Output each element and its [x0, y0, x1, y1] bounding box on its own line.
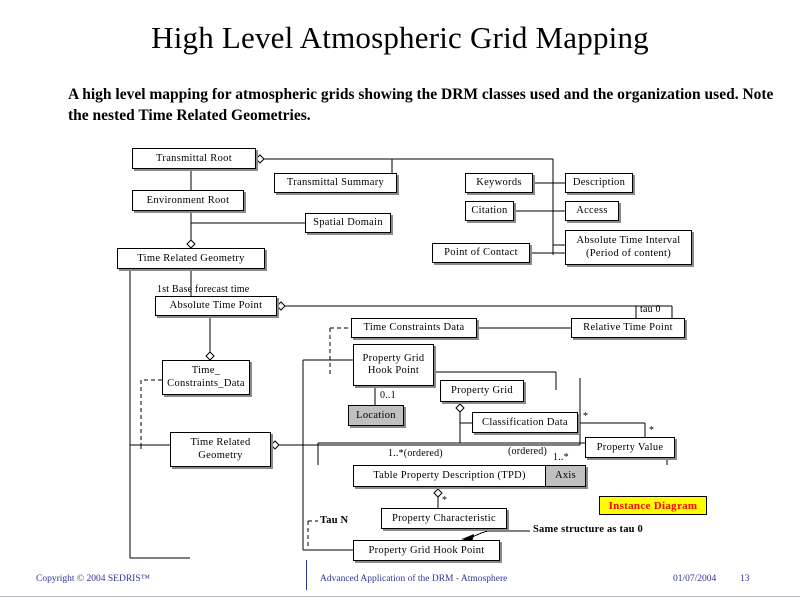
label-same-structure-note: Same structure as tau 0: [533, 524, 643, 535]
node-point-of-contact[interactable]: Point of Contact: [432, 243, 530, 263]
label-star-property-value: *: [649, 425, 654, 436]
footer-divider: [0, 596, 800, 597]
label-multiplicity-tpd: 1..*(ordered): [388, 448, 443, 459]
diagram-canvas: Transmittal Root Transmittal Summary Env…: [0, 140, 800, 565]
node-axis[interactable]: Axis: [545, 465, 586, 487]
footer-date: 01/07/2004: [673, 574, 716, 584]
node-time-related-geometry-top[interactable]: Time Related Geometry: [117, 248, 265, 269]
node-property-grid-hook-point-bottom[interactable]: Property Grid Hook Point: [353, 540, 500, 561]
node-access[interactable]: Access: [565, 201, 619, 221]
label-multiplicity-location: 0..1: [380, 390, 396, 401]
label-multiplicity-axis: 1..*: [553, 452, 569, 463]
node-absolute-time-point[interactable]: Absolute Time Point: [155, 296, 277, 316]
node-citation[interactable]: Citation: [465, 201, 514, 221]
node-property-value[interactable]: Property Value: [585, 437, 675, 458]
diamond-trg-mid: [271, 441, 279, 449]
label-first-base-forecast-time: 1st Base forecast time: [157, 284, 249, 295]
node-relative-time-point[interactable]: Relative Time Point: [571, 318, 685, 338]
node-property-characteristic[interactable]: Property Characteristic: [381, 508, 507, 529]
label-ordered: (ordered): [508, 446, 547, 457]
slide-root: High Level Atmospheric Grid Mapping A hi…: [0, 0, 800, 600]
node-transmittal-summary[interactable]: Transmittal Summary: [274, 173, 397, 193]
node-property-grid-hook-point[interactable]: Property Grid Hook Point: [353, 344, 434, 386]
node-classification-data[interactable]: Classification Data: [472, 412, 578, 433]
diamond-absolute-time-point: [277, 302, 285, 310]
node-absolute-time-interval[interactable]: Absolute Time Interval (Period of conten…: [565, 230, 692, 265]
node-transmittal-root[interactable]: Transmittal Root: [132, 148, 256, 169]
node-description[interactable]: Description: [565, 173, 633, 193]
slide-footer: Copyright © 2004 SEDRIS™ Advanced Applic…: [0, 566, 800, 600]
node-property-grid[interactable]: Property Grid: [440, 380, 524, 402]
label-tau-0: tau 0: [640, 304, 661, 315]
diamond-property-grid: [456, 404, 464, 412]
footer-center-text: Advanced Application of the DRM - Atmosp…: [320, 574, 507, 584]
page-subtitle: A high level mapping for atmospheric gri…: [68, 84, 784, 126]
node-time-related-geometry-mid[interactable]: Time Related Geometry: [170, 432, 271, 467]
label-star-property-characteristic: *: [442, 495, 447, 506]
legend-instance-diagram: Instance Diagram: [599, 496, 707, 515]
node-spatial-domain[interactable]: Spatial Domain: [305, 213, 391, 233]
diamond-time-related-geometry: [187, 240, 195, 248]
node-environment-root[interactable]: Environment Root: [132, 190, 244, 211]
footer-copyright: Copyright © 2004 SEDRIS™: [36, 574, 150, 584]
footer-vertical-divider: [306, 560, 307, 590]
label-tau-n: Tau N: [320, 515, 348, 526]
page-title: High Level Atmospheric Grid Mapping: [0, 20, 800, 56]
diamond-time-constraints: [206, 352, 214, 360]
node-time-constraints-data[interactable]: Time Constraints Data: [351, 318, 477, 338]
label-star-classification: *: [583, 411, 588, 422]
diamond-tpd: [434, 489, 442, 497]
node-table-property-description[interactable]: Table Property Description (TPD): [353, 465, 546, 487]
footer-page-number: 13: [740, 574, 750, 584]
node-keywords[interactable]: Keywords: [465, 173, 533, 193]
node-location[interactable]: Location: [348, 405, 404, 426]
diamond-transmittal-root: [256, 155, 264, 163]
node-time-constraints-data-left[interactable]: Time_ Constraints_Data: [162, 360, 250, 395]
